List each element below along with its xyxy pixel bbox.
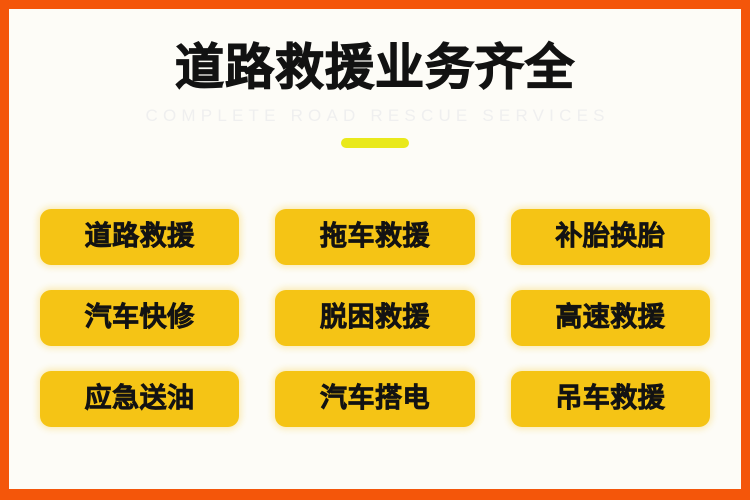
service-button-tire-repair[interactable]: 补胎换胎: [511, 209, 710, 265]
service-label: 汽车搭电: [320, 384, 430, 414]
service-label: 拖车救援: [320, 222, 430, 252]
poster-frame: 道路救援业务齐全 COMPLETE ROAD RESCUE SERVICES 道…: [0, 0, 750, 500]
service-button-highway-rescue[interactable]: 高速救援: [511, 290, 710, 346]
service-button-jump-start[interactable]: 汽车搭电: [275, 371, 474, 427]
accent-divider: [341, 138, 409, 148]
service-button-extrication-rescue[interactable]: 脱困救援: [275, 290, 474, 346]
service-label: 补胎换胎: [555, 222, 665, 252]
service-button-tow-rescue[interactable]: 拖车救援: [275, 209, 474, 265]
service-label: 应急送油: [85, 384, 195, 414]
page-subtitle: COMPLETE ROAD RESCUE SERVICES: [9, 106, 741, 126]
page-title: 道路救援业务齐全: [9, 39, 741, 97]
services-grid: 道路救援 拖车救援 补胎换胎 汽车快修 脱困救援 高速救援 应急送油 汽车搭电: [40, 209, 710, 427]
service-label: 吊车救援: [555, 384, 665, 414]
service-button-road-rescue[interactable]: 道路救援: [40, 209, 239, 265]
service-button-crane-rescue[interactable]: 吊车救援: [511, 371, 710, 427]
header-block: 道路救援业务齐全 COMPLETE ROAD RESCUE SERVICES: [9, 39, 741, 148]
poster-canvas: 道路救援业务齐全 COMPLETE ROAD RESCUE SERVICES 道…: [9, 9, 741, 489]
service-label: 高速救援: [555, 303, 665, 333]
service-button-emergency-fuel[interactable]: 应急送油: [40, 371, 239, 427]
service-label: 脱困救援: [320, 303, 430, 333]
service-label: 道路救援: [85, 222, 195, 252]
service-label: 汽车快修: [85, 303, 195, 333]
service-button-quick-repair[interactable]: 汽车快修: [40, 290, 239, 346]
